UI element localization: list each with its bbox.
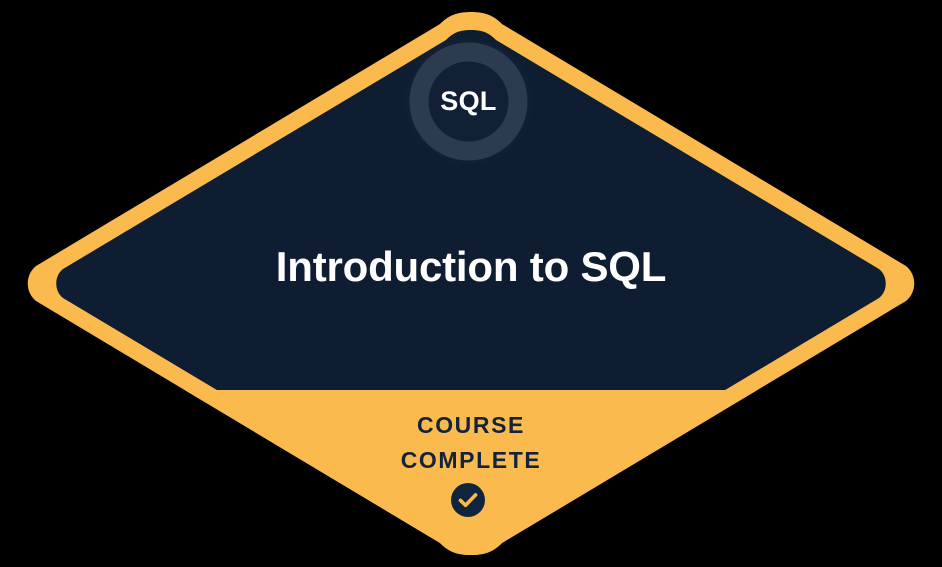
check-circle-icon [450,482,486,518]
tech-badge: SQL [409,42,528,161]
completion-status: COURSE COMPLETE [171,408,771,478]
course-badge-canvas: SQL Introduction to SQL COURSE COMPLETE [0,0,942,567]
status-line-primary: COURSE [171,408,771,443]
tech-badge-label: SQL [440,88,496,115]
status-line-secondary: COMPLETE [171,443,771,478]
course-title: Introduction to SQL [60,243,882,290]
